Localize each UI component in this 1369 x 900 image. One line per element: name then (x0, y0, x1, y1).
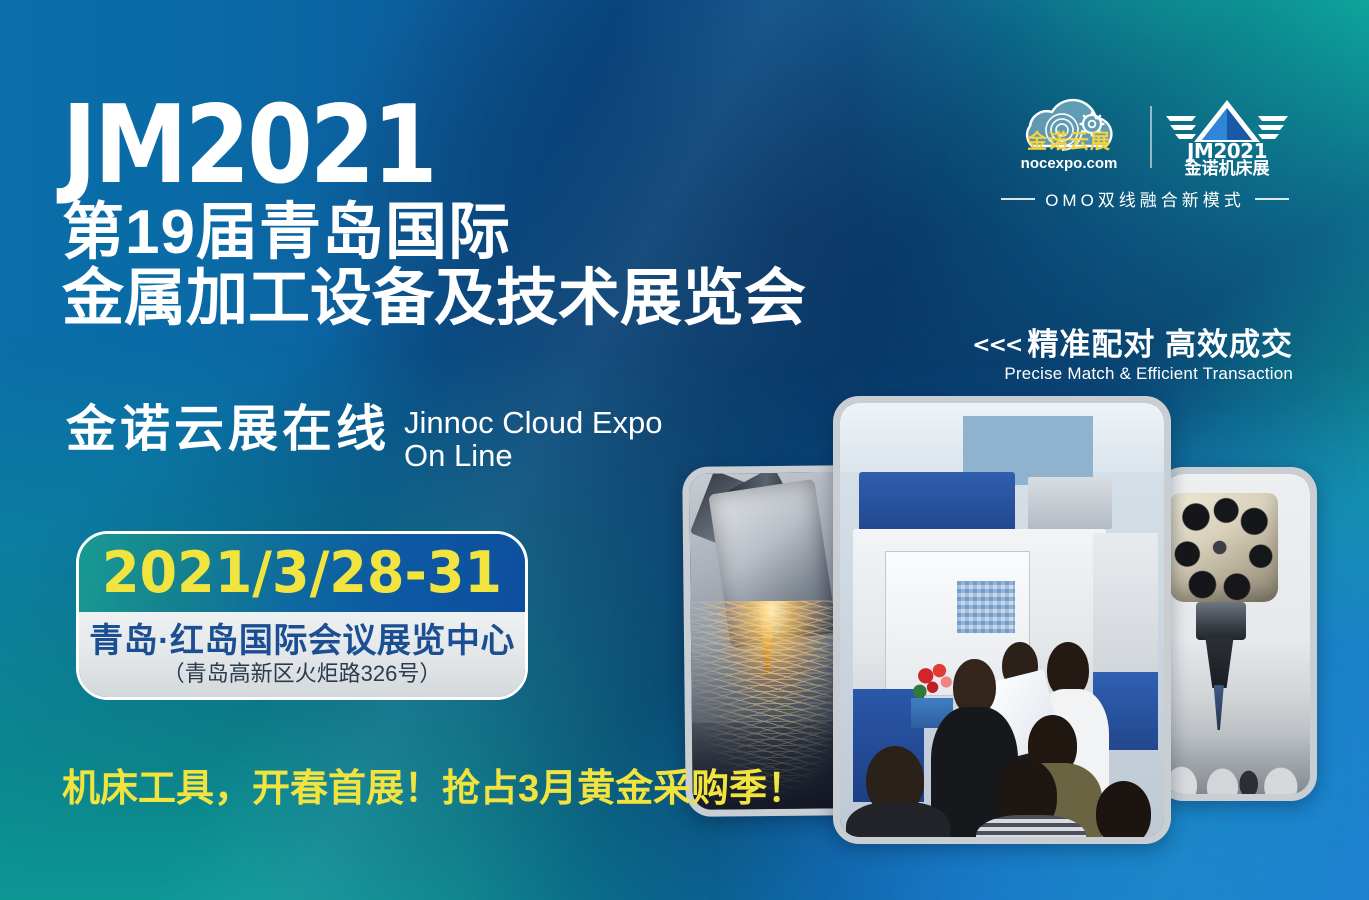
cloud-expo-cn: 金诺云展在线 (66, 404, 390, 454)
promo-tagline: 机床工具，开春首展！抢占3月黄金采购季！ (62, 757, 805, 812)
match-slogan-cn-text: 精准配对 高效成交 (1027, 327, 1293, 362)
exhibition-title-line2: 金属加工设备及技术展览会 (62, 266, 806, 332)
cloud-expo-en-line1: Jinnoc Cloud Expo (404, 406, 663, 439)
date-strip: 2021/3/28-31 (79, 534, 525, 612)
venue-strip: 青岛·红岛国际会议展览中心 （青岛高新区火炬路326号） (79, 612, 525, 697)
exhibition-title-line1: 第19届青岛国际 (62, 200, 806, 266)
date-venue-card: 2021/3/28-31 青岛·红岛国际会议展览中心 （青岛高新区火炬路326号… (76, 531, 528, 700)
cloud-expo-line: 金诺云展在线 Jinnoc Cloud Expo On Line (66, 404, 663, 473)
brand-code: JM2021 (62, 96, 791, 195)
omo-slogan-text: OMO双线融合新模式 (1045, 186, 1245, 211)
triangle-wings-icon: JM2021 金诺机床展 (1164, 96, 1290, 178)
cloud-expo-logo: 金诺云展 nocexpo.com (1000, 96, 1138, 178)
cloud-expo-en: Jinnoc Cloud Expo On Line (404, 406, 663, 473)
venue-name: 青岛·红岛国际会议展览中心 (79, 622, 525, 660)
cloud-logo-website: nocexpo.com (1021, 155, 1118, 172)
logo-row: 金诺云展 nocexpo.com (995, 96, 1295, 178)
match-slogan-en: Precise Match & Efficient Transaction (972, 364, 1293, 384)
chevrons-left-icon: <<< (972, 333, 1021, 358)
machine-show-logo: JM2021 金诺机床展 (1164, 96, 1290, 178)
logo-divider (1150, 106, 1152, 168)
event-date: 2021/3/28-31 (102, 544, 502, 601)
logo-bar: 金诺云展 nocexpo.com (995, 96, 1295, 211)
match-slogan-cn: <<<精准配对 高效成交 (972, 327, 1293, 363)
cloud-icon: 金诺云展 nocexpo.com (1000, 96, 1138, 178)
photo-cnc-spindle (1157, 467, 1317, 801)
match-slogan-block: <<<精准配对 高效成交 Precise Match & Efficient T… (972, 327, 1293, 384)
cloud-logo-name: 金诺云展 (1026, 129, 1111, 153)
omo-slogan-line: OMO双线融合新模式 (995, 186, 1295, 211)
photo-tradeshow-crowd (833, 396, 1171, 844)
omo-dash-right (1255, 198, 1289, 200)
omo-dash-left (1001, 198, 1035, 200)
exhibition-title: 第19届青岛国际 金属加工设备及技术展览会 (62, 200, 806, 331)
venue-address: （青岛高新区火炬路326号） (79, 662, 525, 686)
jm-logo-name: 金诺机床展 (1184, 158, 1270, 178)
cloud-expo-en-line2: On Line (404, 439, 663, 472)
headline-block: JM2021 第19届青岛国际 金属加工设备及技术展览会 (62, 96, 806, 332)
promo-poster: JM2021 第19届青岛国际 金属加工设备及技术展览会 金诺云展在线 Jinn… (0, 0, 1369, 900)
